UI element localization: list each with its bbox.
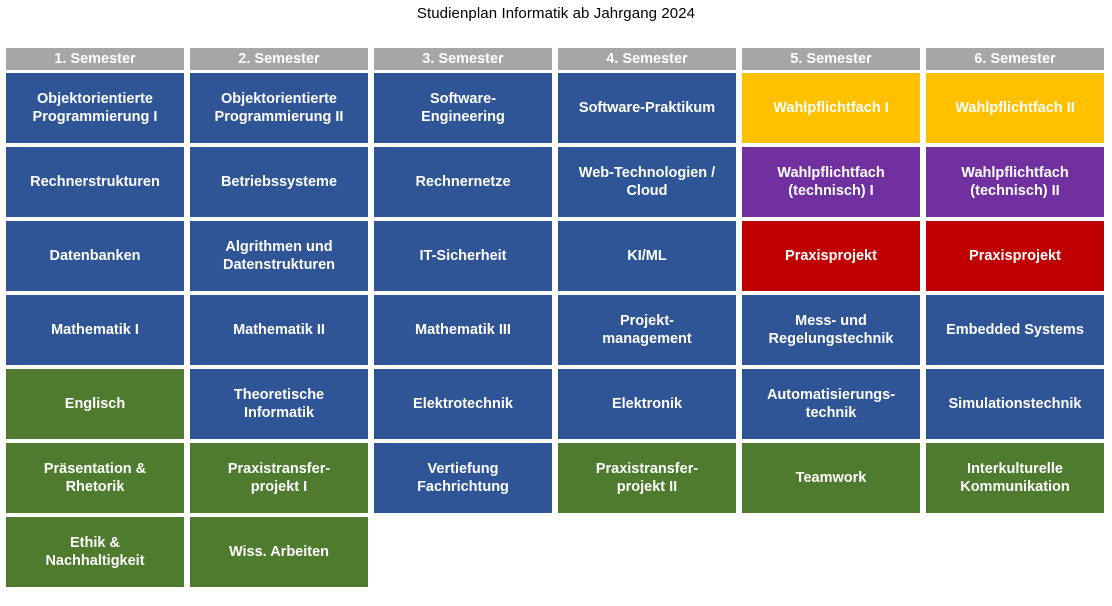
course-label: Mess- und Regelungstechnik: [769, 312, 894, 348]
course-label: Algrithmen und Datenstrukturen: [223, 238, 335, 274]
course-cell[interactable]: Mess- und Regelungstechnik: [742, 295, 920, 365]
course-cell[interactable]: Embedded Systems: [926, 295, 1104, 365]
semester-header-6: 6. Semester: [926, 48, 1104, 70]
course-label: Vertiefung Fachrichtung: [417, 460, 509, 496]
semester-header-4: 4. Semester: [558, 48, 736, 70]
course-label: Objektorientierte Programmierung II: [215, 90, 344, 126]
course-label: Elektronik: [612, 395, 682, 413]
course-label: Software-Praktikum: [579, 99, 715, 117]
course-cell[interactable]: Praxisprojekt: [742, 221, 920, 291]
course-label: Mathematik II: [233, 321, 325, 339]
semester-header-row: 1. Semester 2. Semester 3. Semester 4. S…: [6, 48, 1106, 70]
course-label: Praxisprojekt: [969, 247, 1061, 265]
course-label: Automatisierungs- technik: [767, 386, 895, 422]
course-cell[interactable]: KI/ML: [558, 221, 736, 291]
course-cell[interactable]: Vertiefung Fachrichtung: [374, 443, 552, 513]
course-cell[interactable]: Wahlpflichtfach (technisch) II: [926, 147, 1104, 217]
course-label: Theoretische Informatik: [234, 386, 324, 422]
semester-header-label: 5. Semester: [790, 50, 871, 68]
course-label: Simulationstechnik: [949, 395, 1082, 413]
course-cell[interactable]: Ethik & Nachhaltigkeit: [6, 517, 184, 587]
course-cell[interactable]: Objektorientierte Programmierung II: [190, 73, 368, 143]
course-label: Interkulturelle Kommunikation: [960, 460, 1070, 496]
course-cell[interactable]: Web-Technologien / Cloud: [558, 147, 736, 217]
course-cell[interactable]: Datenbanken: [6, 221, 184, 291]
course-label: Praxistransfer- projekt I: [228, 460, 330, 496]
course-cell[interactable]: Wahlpflichtfach II: [926, 73, 1104, 143]
empty-cell: [374, 517, 552, 587]
course-row: Englisch Theoretische Informatik Elektro…: [6, 369, 1106, 439]
course-cell[interactable]: IT-Sicherheit: [374, 221, 552, 291]
semester-header-label: 4. Semester: [606, 50, 687, 68]
course-cell[interactable]: Software-Praktikum: [558, 73, 736, 143]
course-label: Mathematik III: [415, 321, 511, 339]
course-row: Mathematik I Mathematik II Mathematik II…: [6, 295, 1106, 365]
semester-header-2: 2. Semester: [190, 48, 368, 70]
course-label: Projekt- management: [602, 312, 691, 348]
semester-header-label: 2. Semester: [238, 50, 319, 68]
course-cell[interactable]: Elektronik: [558, 369, 736, 439]
course-row: Rechnerstrukturen Betriebssysteme Rechne…: [6, 147, 1106, 217]
course-cell[interactable]: Präsentation & Rhetorik: [6, 443, 184, 513]
course-row: Präsentation & Rhetorik Praxistransfer- …: [6, 443, 1106, 513]
course-cell[interactable]: Objektorientierte Programmierung I: [6, 73, 184, 143]
course-cell[interactable]: Simulationstechnik: [926, 369, 1104, 439]
curriculum-grid: 1. Semester 2. Semester 3. Semester 4. S…: [6, 48, 1106, 591]
semester-header-label: 1. Semester: [54, 50, 135, 68]
course-label: Teamwork: [796, 469, 867, 487]
course-label: Wahlpflichtfach II: [955, 99, 1075, 117]
course-row: Datenbanken Algrithmen und Datenstruktur…: [6, 221, 1106, 291]
semester-header-label: 6. Semester: [974, 50, 1055, 68]
course-label: Ethik & Nachhaltigkeit: [45, 534, 144, 570]
course-label: Wahlpflichtfach (technisch) II: [961, 164, 1068, 200]
course-cell[interactable]: Praxisprojekt: [926, 221, 1104, 291]
course-cell[interactable]: Wahlpflichtfach I: [742, 73, 920, 143]
course-cell[interactable]: Praxistransfer- projekt I: [190, 443, 368, 513]
course-label: Wiss. Arbeiten: [229, 543, 329, 561]
course-label: Web-Technologien / Cloud: [579, 164, 715, 200]
course-cell[interactable]: Praxistransfer- projekt II: [558, 443, 736, 513]
course-label: KI/ML: [627, 247, 666, 265]
course-label: Wahlpflichtfach (technisch) I: [777, 164, 884, 200]
course-cell[interactable]: Interkulturelle Kommunikation: [926, 443, 1104, 513]
course-label: IT-Sicherheit: [419, 247, 506, 265]
course-label: Datenbanken: [49, 247, 140, 265]
course-label: Präsentation & Rhetorik: [44, 460, 146, 496]
course-cell[interactable]: Englisch: [6, 369, 184, 439]
course-label: Mathematik I: [51, 321, 139, 339]
course-cell[interactable]: Wiss. Arbeiten: [190, 517, 368, 587]
course-cell[interactable]: Betriebssysteme: [190, 147, 368, 217]
course-cell[interactable]: Wahlpflichtfach (technisch) I: [742, 147, 920, 217]
empty-cell: [742, 517, 920, 587]
course-label: Betriebssysteme: [221, 173, 337, 191]
course-cell[interactable]: Elektrotechnik: [374, 369, 552, 439]
page-title: Studienplan Informatik ab Jahrgang 2024: [0, 0, 1112, 23]
course-label: Rechnernetze: [415, 173, 510, 191]
course-label: Wahlpflichtfach I: [773, 99, 888, 117]
course-cell[interactable]: Projekt- management: [558, 295, 736, 365]
course-label: Embedded Systems: [946, 321, 1084, 339]
course-cell[interactable]: Theoretische Informatik: [190, 369, 368, 439]
course-cell[interactable]: Rechnerstrukturen: [6, 147, 184, 217]
course-label: Objektorientierte Programmierung I: [33, 90, 158, 126]
course-cell[interactable]: Mathematik I: [6, 295, 184, 365]
course-cell[interactable]: Algrithmen und Datenstrukturen: [190, 221, 368, 291]
semester-header-5: 5. Semester: [742, 48, 920, 70]
course-label: Englisch: [65, 395, 125, 413]
course-cell[interactable]: Rechnernetze: [374, 147, 552, 217]
course-cell[interactable]: Mathematik III: [374, 295, 552, 365]
course-cell[interactable]: Teamwork: [742, 443, 920, 513]
course-cell[interactable]: Software- Engineering: [374, 73, 552, 143]
course-cell[interactable]: Mathematik II: [190, 295, 368, 365]
empty-cell: [926, 517, 1104, 587]
course-row: Ethik & Nachhaltigkeit Wiss. Arbeiten: [6, 517, 1106, 587]
course-cell[interactable]: Automatisierungs- technik: [742, 369, 920, 439]
course-label: Praxistransfer- projekt II: [596, 460, 698, 496]
studienplan-page: Studienplan Informatik ab Jahrgang 2024 …: [0, 0, 1112, 606]
course-row: Objektorientierte Programmierung I Objek…: [6, 73, 1106, 143]
course-label: Rechnerstrukturen: [30, 173, 160, 191]
empty-cell: [558, 517, 736, 587]
semester-header-1: 1. Semester: [6, 48, 184, 70]
course-label: Praxisprojekt: [785, 247, 877, 265]
semester-header-3: 3. Semester: [374, 48, 552, 70]
course-label: Elektrotechnik: [413, 395, 513, 413]
semester-header-label: 3. Semester: [422, 50, 503, 68]
course-label: Software- Engineering: [421, 90, 505, 126]
